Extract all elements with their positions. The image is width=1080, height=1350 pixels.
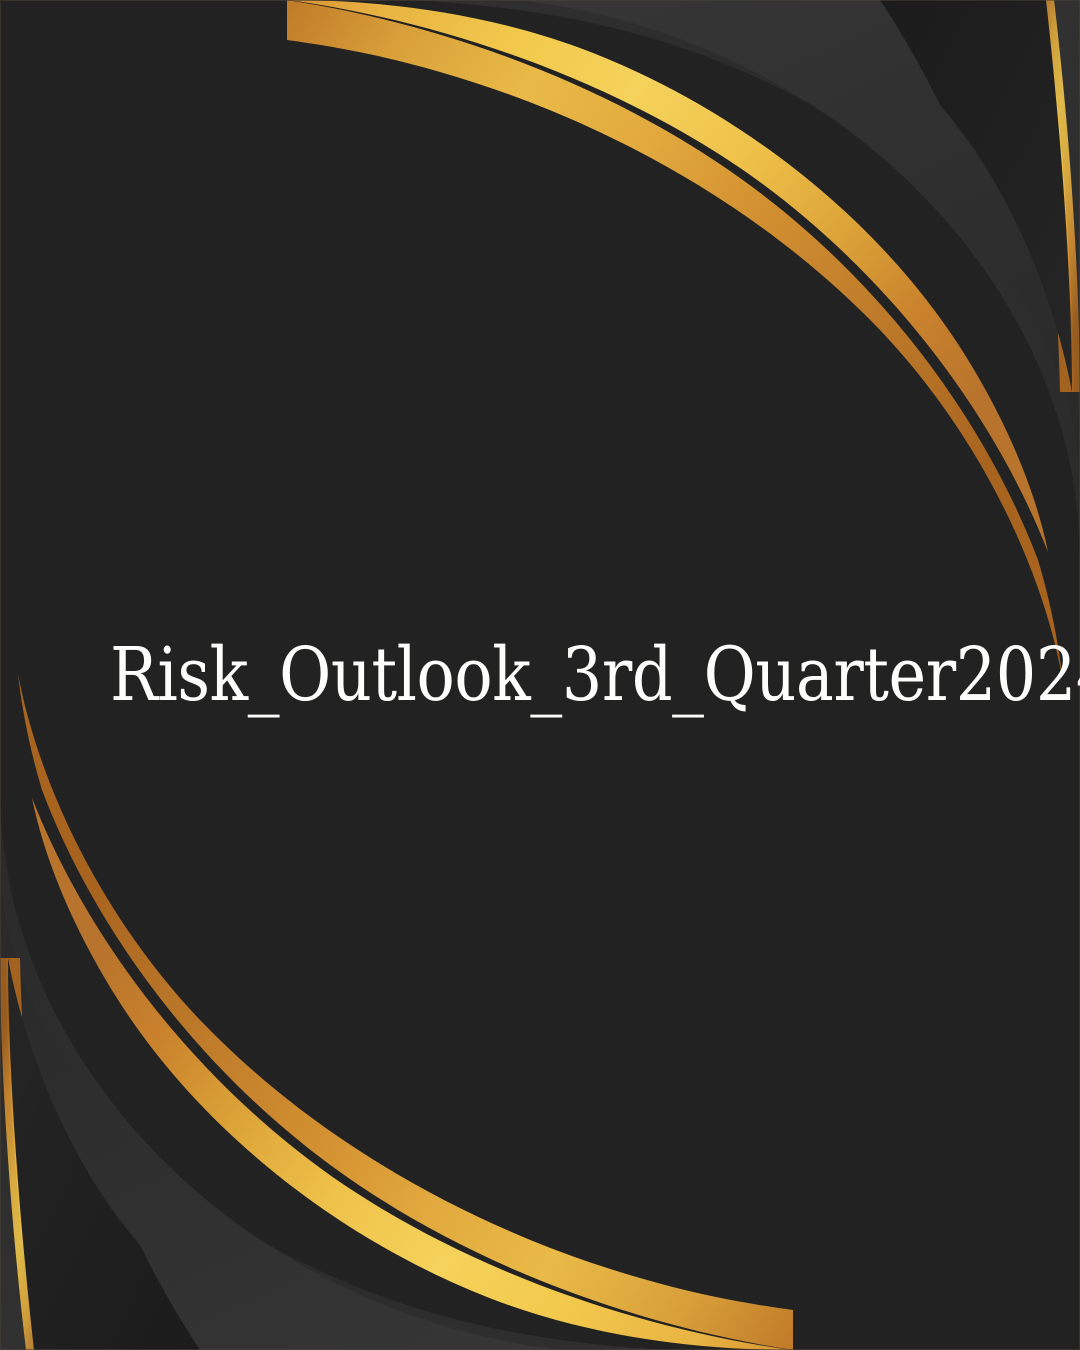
cover-background-art bbox=[0, 0, 1080, 1350]
cover-background bbox=[0, 0, 1080, 1350]
book-cover: Risk_Outlook_3rd_Quarter2024-1 bbox=[0, 0, 1080, 1350]
